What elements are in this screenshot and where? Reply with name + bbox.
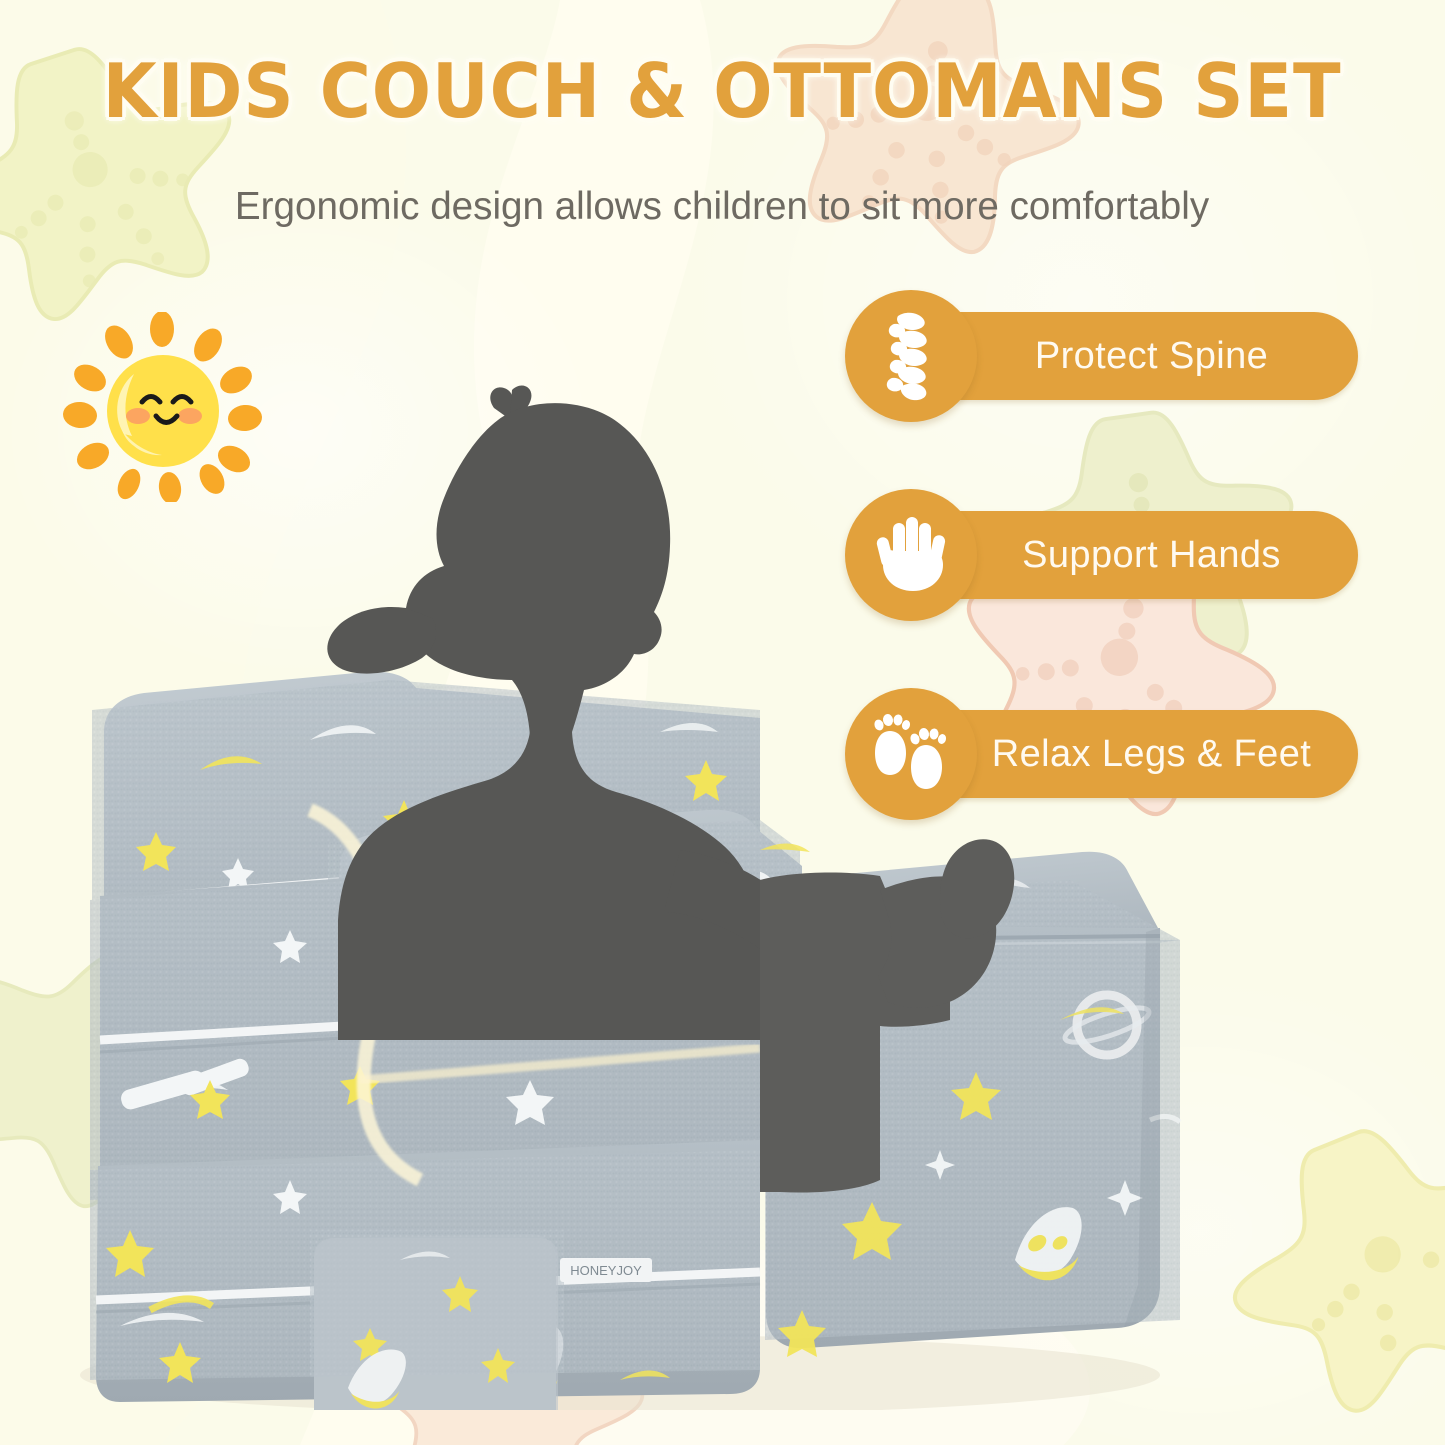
feature-label-relax-legs-feet: Relax Legs & Feet xyxy=(932,733,1337,776)
brand-tag: HONEYJOY xyxy=(560,1258,652,1282)
feature-pill-support-hands[interactable]: Support Hands xyxy=(911,511,1358,599)
feature-label-protect-spine: Protect Spine xyxy=(975,335,1294,378)
page-title-container: KIDS COUCH & OTTOMANS SET xyxy=(0,48,1445,134)
hand-icon xyxy=(845,489,977,621)
starfish-bottom-right-icon xyxy=(1230,1120,1445,1445)
feature-label-support-hands: Support Hands xyxy=(962,534,1307,577)
feature-badge-protect-spine[interactable]: Protect Spine xyxy=(845,290,1358,422)
feature-badge-relax-legs-feet[interactable]: Relax Legs & Feet xyxy=(845,688,1358,820)
spine-icon xyxy=(845,290,977,422)
page-subtitle-container: Ergonomic design allows children to sit … xyxy=(0,182,1445,232)
page-title: KIDS COUCH & OTTOMANS SET xyxy=(103,48,1342,134)
page-subtitle: Ergonomic design allows children to sit … xyxy=(235,182,1209,232)
starfish-top-center-icon xyxy=(755,0,1085,300)
couch-pocket-flap xyxy=(310,1230,564,1410)
feature-badge-support-hands[interactable]: Support Hands xyxy=(845,489,1358,621)
couch-base-layers: HONEYJOY xyxy=(90,1130,780,1410)
feature-pill-relax-legs-feet[interactable]: Relax Legs & Feet xyxy=(911,710,1358,798)
feature-pill-protect-spine[interactable]: Protect Spine xyxy=(911,312,1358,400)
infographic-canvas: KIDS COUCH & OTTOMANS SET Ergonomic desi… xyxy=(0,0,1445,1445)
footprints-icon xyxy=(845,688,977,820)
brand-tag-label: HONEYJOY xyxy=(570,1263,642,1278)
